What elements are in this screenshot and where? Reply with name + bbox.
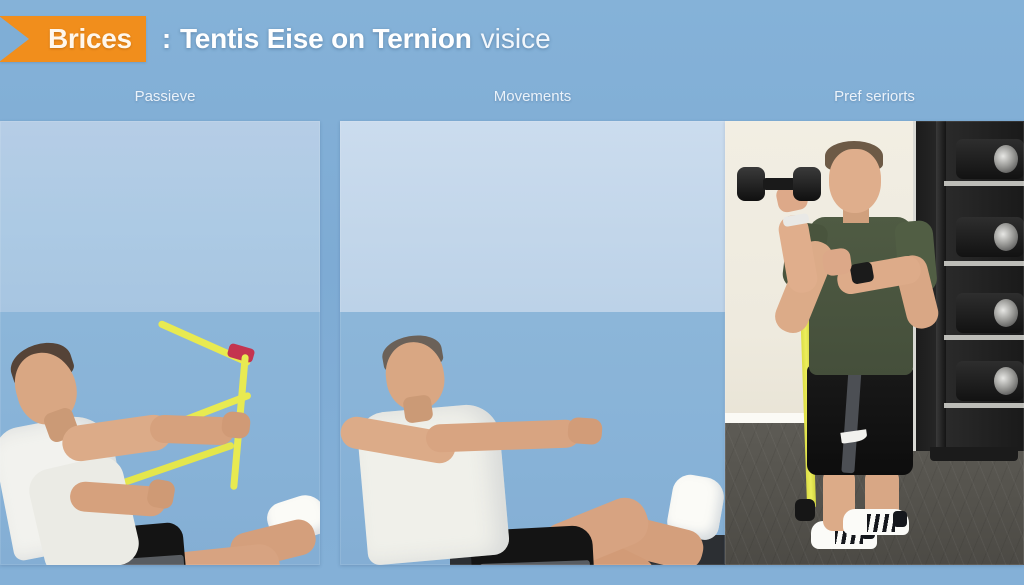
badge-container: Brices	[0, 16, 146, 62]
panel-1-empty-area	[0, 121, 320, 312]
title-main: Tentis Eise on Ternion	[180, 23, 472, 55]
rack-dumbbell	[956, 361, 1024, 401]
title-colon: :	[162, 23, 171, 55]
column-label-movements: Movements	[340, 88, 725, 105]
rack-dumbbell	[956, 139, 1024, 179]
panel-2-empty-area	[340, 121, 725, 312]
rack-shelf	[944, 335, 1024, 340]
hand-upper	[221, 411, 252, 440]
page-title: : Tentis Eise on Ternion visice	[162, 23, 551, 55]
head	[829, 149, 881, 213]
rack-foot	[930, 447, 1018, 461]
panel-3-photo	[725, 121, 1024, 565]
category-badge: Brices	[0, 16, 146, 62]
column-label-pref-seriorts: Pref seriorts	[725, 88, 1024, 105]
panel-movements[interactable]	[340, 121, 725, 565]
column-label-row: Passieve Movements Pref seriorts	[0, 88, 1024, 116]
header-bar: Brices : Tentis Eise on Ternion visice	[0, 0, 1024, 78]
column-label-passieve: Passieve	[0, 88, 330, 105]
forearm-extended	[426, 419, 581, 452]
rack-post	[936, 121, 946, 451]
hand-right	[821, 247, 852, 277]
rack-shelf	[944, 181, 1024, 186]
panel-passieve[interactable]	[0, 121, 320, 565]
rack-dumbbell	[956, 293, 1024, 333]
dumbbell-weight-right	[793, 167, 821, 201]
title-suffix: visice	[481, 23, 551, 55]
neck	[402, 394, 433, 424]
panel-pref-seriorts[interactable]	[725, 121, 1024, 565]
shoe-heel	[893, 511, 907, 527]
rack-shelf	[944, 403, 1024, 408]
athletic-shoe-right	[843, 509, 909, 535]
dumbbell-bar	[763, 178, 797, 190]
dumbbell-weight-left	[737, 167, 765, 201]
hand	[567, 417, 603, 445]
rack-shelf	[944, 261, 1024, 266]
panel-2-photo	[340, 312, 725, 565]
panel-1-photo	[0, 312, 320, 565]
screenshot-root: Brices : Tentis Eise on Ternion visice P…	[0, 0, 1024, 585]
badge-label: Brices	[48, 23, 132, 55]
band-foot-anchor	[795, 499, 815, 521]
held-dumbbell	[737, 167, 821, 201]
shoe-stripes	[867, 514, 895, 532]
rack-dumbbell	[956, 217, 1024, 257]
wrist-watch	[849, 261, 874, 285]
